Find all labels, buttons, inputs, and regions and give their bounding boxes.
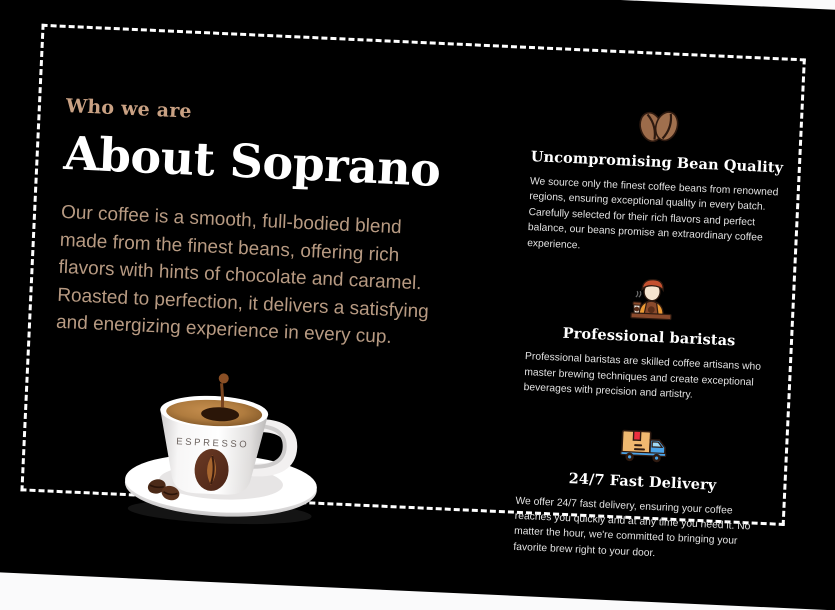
feature-body: Professional baristas are skilled coffee…	[523, 349, 771, 406]
slide-content-layer: Who we are About Soprano Our coffee is a…	[0, 0, 835, 610]
features-list: Uncompromising Bean Quality We source on…	[493, 95, 804, 587]
espresso-cup-photo: ESPRESSO	[95, 357, 352, 533]
feature-body: We offer 24/7 fast delivery, ensuring yo…	[513, 493, 768, 566]
slide-panel: Who we are About Soprano Our coffee is a…	[0, 0, 835, 610]
feature-title: Uncompromising Bean Quality	[512, 147, 802, 177]
about-text-block: Who we are About Soprano Our coffee is a…	[55, 95, 466, 355]
feature-title: 24/7 Fast Delivery	[497, 466, 787, 496]
barista-icon	[622, 276, 680, 324]
page-title: About Soprano	[63, 129, 465, 195]
feature-item-professional-baristas: Professional baristas Professional baris…	[501, 270, 796, 407]
coffee-beans-icon	[630, 101, 688, 149]
feature-body: We source only the finest coffee beans f…	[527, 174, 782, 263]
feature-title: Professional baristas	[504, 322, 794, 352]
intro-paragraph: Our coffee is a smooth, full-bodied blen…	[55, 199, 441, 354]
delivery-truck-icon	[615, 420, 673, 468]
feature-item-fast-delivery: 24/7 Fast Delivery We offer 24/7 fast de…	[494, 414, 790, 567]
feature-item-bean-quality: Uncompromising Bean Quality We source on…	[508, 95, 805, 263]
slide-canvas: Who we are About Soprano Our coffee is a…	[0, 0, 835, 610]
